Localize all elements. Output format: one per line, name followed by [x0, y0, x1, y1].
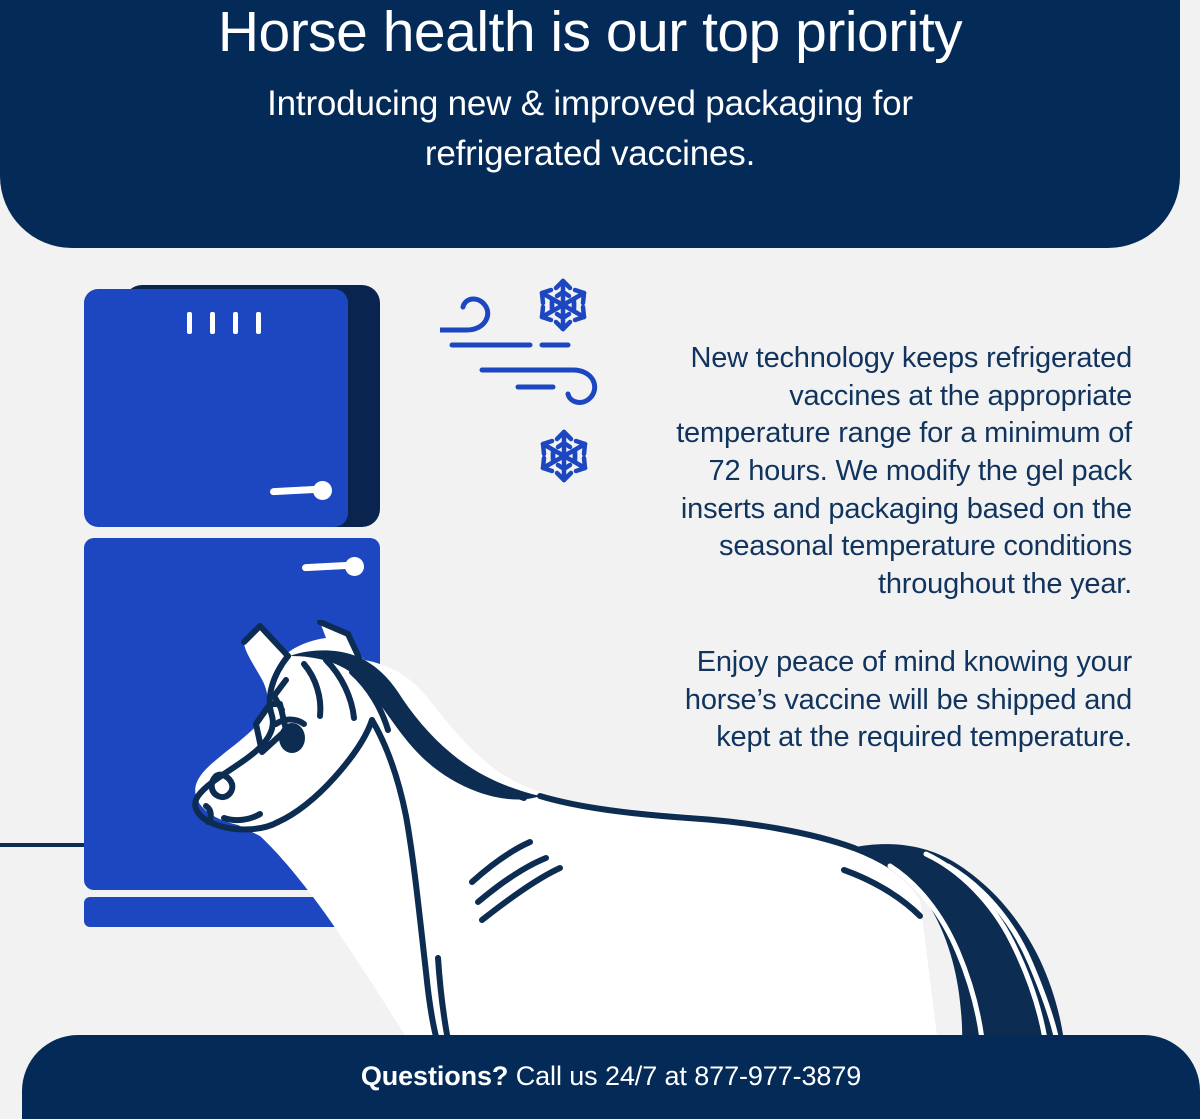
snowflake-icon — [542, 281, 584, 329]
footer-phone-text: Call us 24/7 at 877-977-3879 — [508, 1061, 861, 1091]
header-banner: Horse health is our top priority Introdu… — [0, 0, 1180, 248]
horse-svg — [120, 620, 1120, 1060]
horse-eye — [279, 723, 305, 753]
page-title: Horse health is our top priority — [60, 0, 1120, 61]
footer-questions-label: Questions? — [361, 1061, 509, 1091]
vent-slot — [187, 312, 192, 334]
footer-banner: Questions? Call us 24/7 at 877-977-3879 — [22, 1035, 1200, 1119]
snowflake-icon — [543, 432, 585, 480]
horse-illustration — [120, 620, 1120, 1060]
fridge-vent-slots — [187, 312, 267, 334]
vent-slot — [210, 312, 215, 334]
cold-icons-svg — [440, 272, 620, 492]
fridge-handle-upper — [270, 481, 332, 499]
infographic-canvas: Horse health is our top priority Introdu… — [0, 0, 1200, 1119]
paragraph-technology: New technology keeps refrigerated vaccin… — [640, 340, 1132, 604]
header-subtitle: Introducing new & improved packaging for… — [60, 61, 1120, 178]
handle-knob — [313, 481, 332, 500]
footer-contact-line: Questions? Call us 24/7 at 877-977-3879 — [361, 1061, 861, 1092]
vent-slot — [233, 312, 238, 334]
left-divider-rule — [0, 843, 84, 847]
horse-lip-line — [206, 806, 211, 822]
header-subtitle-line1: Introducing new & improved packaging for — [267, 84, 913, 123]
header-subtitle-line2: refrigerated vaccines. — [425, 134, 755, 173]
handle-knob — [345, 557, 364, 576]
fridge-handle-lower — [302, 557, 364, 575]
vent-slot — [256, 312, 261, 334]
cold-air-icon-group — [440, 272, 620, 492]
wind-swirl-icon — [440, 299, 488, 330]
